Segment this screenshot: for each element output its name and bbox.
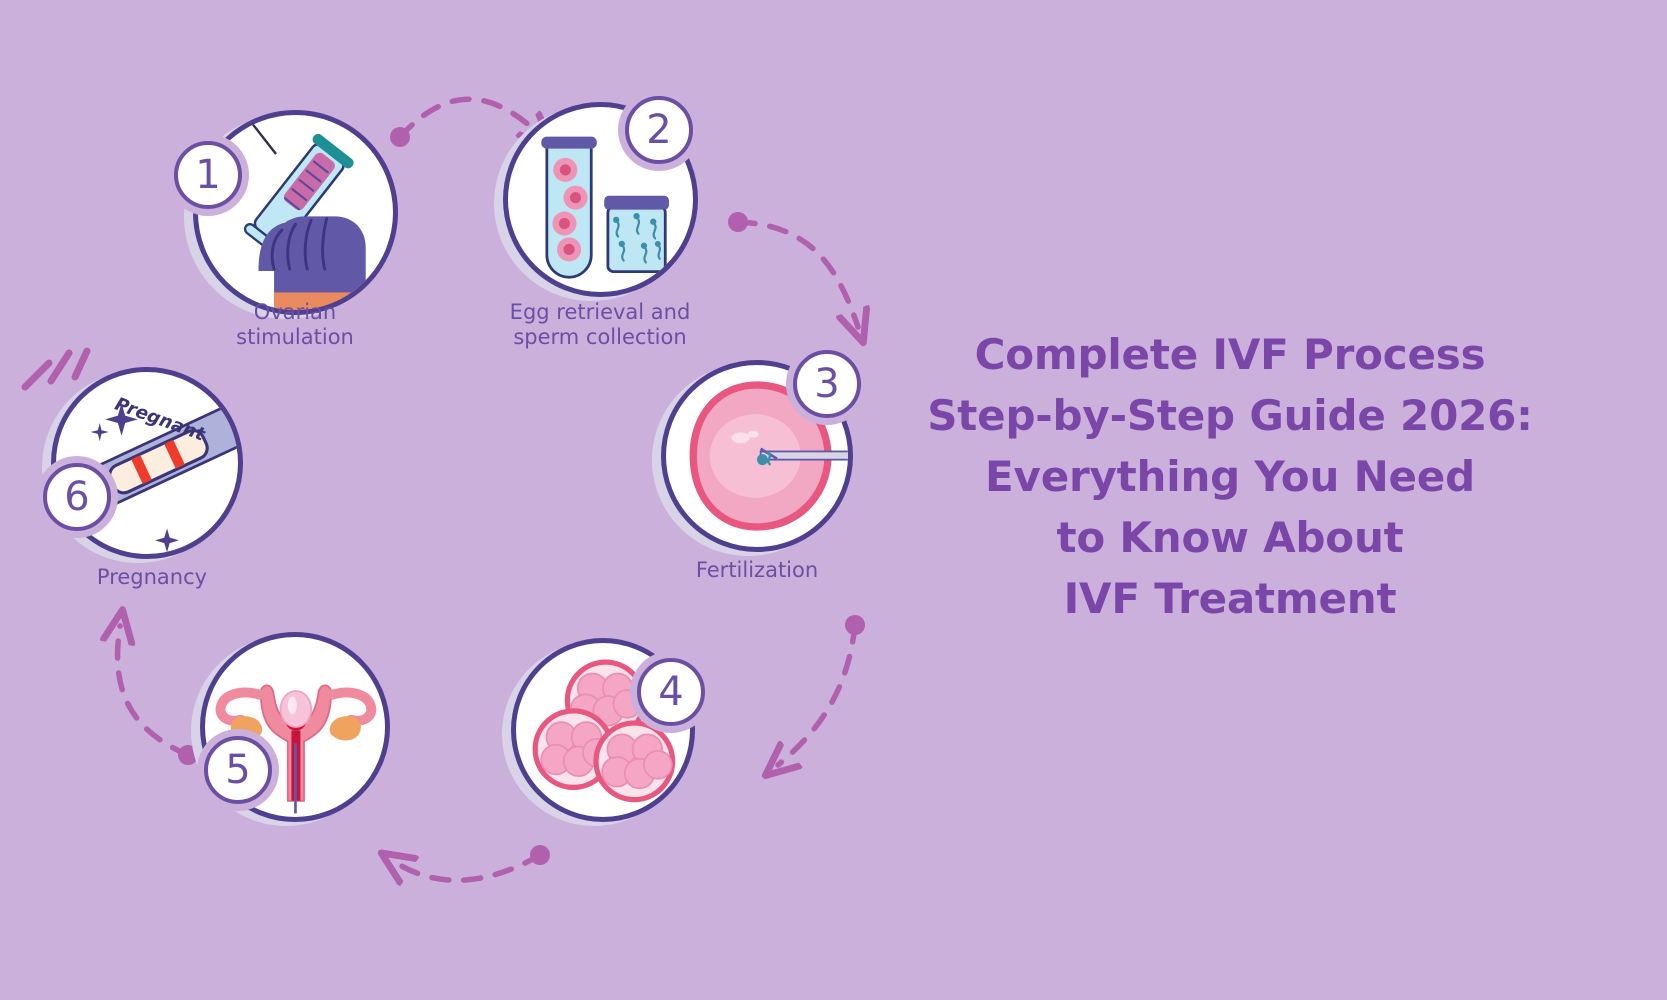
- step-5-badge: 5: [204, 736, 272, 804]
- step-2[interactable]: 2 Egg retrieval and sperm collection: [503, 102, 698, 297]
- step-6[interactable]: Pregnant 6 Pregnancy: [51, 367, 243, 559]
- connector-5-to-6: [118, 626, 188, 755]
- step-6-label: Pregnancy: [57, 565, 247, 590]
- title-line-5: IVF Treatment: [880, 569, 1580, 630]
- motion-spark-lines: [0, 323, 109, 433]
- step-5[interactable]: 5: [200, 632, 390, 822]
- step-3[interactable]: 3 Fertilization: [661, 360, 853, 552]
- connector-3-to-4: [778, 625, 855, 765]
- step-4[interactable]: 4: [511, 638, 695, 822]
- step-1-badge: 1: [174, 141, 242, 209]
- step-6-badge: 6: [43, 463, 111, 531]
- step-3-badge: 3: [793, 350, 861, 418]
- step-2-label: Egg retrieval and sperm collection: [435, 300, 765, 350]
- title-line-1: Complete IVF Process: [880, 325, 1580, 386]
- step-4-badge: 4: [637, 658, 705, 726]
- step-1[interactable]: 1 Ovarian stimulation: [193, 110, 398, 315]
- connector-4-to-5: [395, 855, 540, 880]
- embryo-c: [596, 723, 673, 800]
- gloved-hand-syringe-icon: [198, 115, 393, 310]
- infographic-canvas: 1 Ovarian stimulation: [0, 0, 1667, 1000]
- page-title: Complete IVF Process Step-by-Step Guide …: [880, 325, 1580, 629]
- title-line-3: Everything You Need: [880, 447, 1580, 508]
- step-3-label: Fertilization: [627, 558, 887, 583]
- title-line-4: to Know About: [880, 508, 1580, 569]
- step-1-disc: [193, 110, 398, 315]
- title-line-2: Step-by-Step Guide 2026:: [880, 386, 1580, 447]
- step-2-badge: 2: [625, 96, 693, 164]
- step-1-label: Ovarian stimulation: [155, 300, 435, 350]
